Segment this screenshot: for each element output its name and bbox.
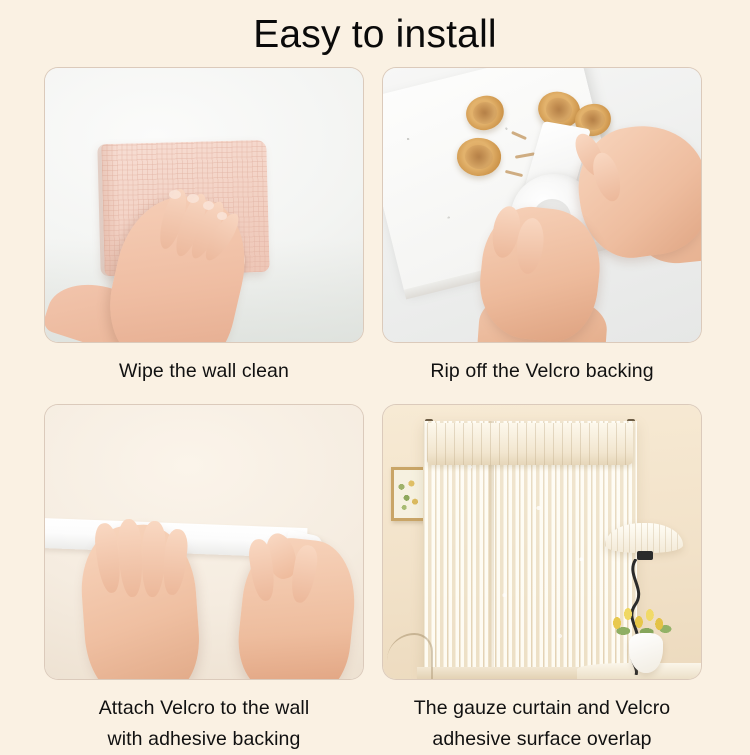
step-caption-4: The gauze curtain and Velcro adhesive su… — [383, 693, 701, 755]
step-caption-4-line2: adhesive surface overlap — [383, 724, 701, 755]
step-caption-2: Rip off the Velcro backing — [383, 356, 701, 387]
step-caption-1: Wipe the wall clean — [45, 356, 363, 387]
steps-grid: Wipe the wall clean — [45, 68, 701, 743]
fingernail — [169, 190, 181, 199]
step-photo-2 — [383, 68, 701, 342]
page-title: Easy to install — [0, 12, 750, 58]
framed-picture — [391, 467, 427, 521]
curtain-valance — [427, 423, 633, 465]
fingernail — [187, 194, 199, 203]
step-card-3: Attach Velcro to the wall with adhesive … — [45, 405, 363, 755]
step-caption-3-line2: with adhesive backing — [45, 724, 363, 755]
fingernail — [217, 212, 227, 220]
fingernail — [203, 201, 214, 210]
step-caption-1-line1: Wipe the wall clean — [119, 360, 289, 382]
step-caption-4-line1: The gauze curtain and Velcro — [414, 697, 670, 719]
botanical-artwork — [394, 470, 424, 518]
step-photo-1 — [45, 68, 363, 342]
product-infographic: Easy to install Wipe the wall clean — [0, 0, 750, 750]
step-caption-3: Attach Velcro to the wall with adhesive … — [45, 693, 363, 755]
step-caption-3-line1: Attach Velcro to the wall — [99, 697, 310, 719]
step-photo-3 — [45, 405, 363, 679]
step-card-2: Rip off the Velcro backing — [383, 68, 701, 387]
step-caption-2-line1: Rip off the Velcro backing — [430, 360, 653, 382]
step-card-1: Wipe the wall clean — [45, 68, 363, 387]
step-card-4: The gauze curtain and Velcro adhesive su… — [383, 405, 701, 755]
step-photo-4 — [383, 405, 701, 679]
